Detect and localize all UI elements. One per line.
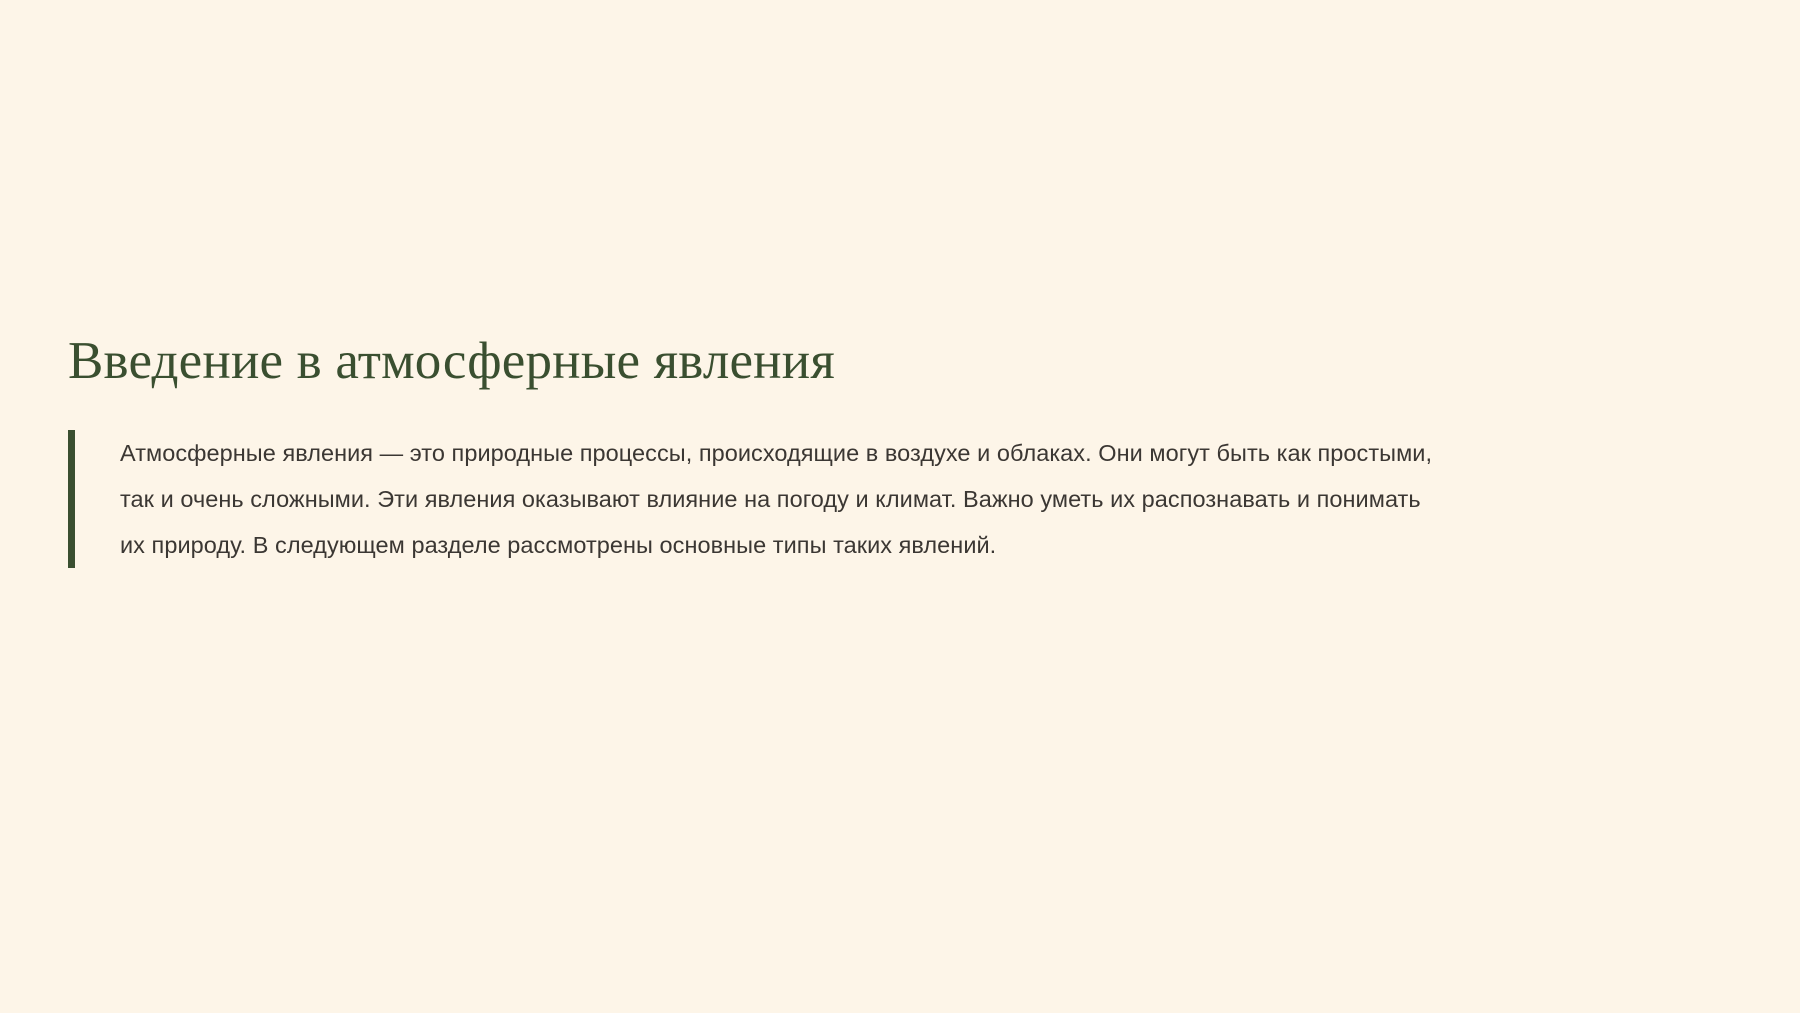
content-block: Введение в атмосферные явления Атмосферн… [68, 330, 1688, 568]
callout-block: Атмосферные явления — это природные проц… [68, 430, 1688, 568]
callout-paragraph: Атмосферные явления — это природные проц… [120, 430, 1450, 568]
page-title: Введение в атмосферные явления [68, 330, 1688, 393]
slide-canvas: Введение в атмосферные явления Атмосферн… [0, 0, 1800, 1013]
